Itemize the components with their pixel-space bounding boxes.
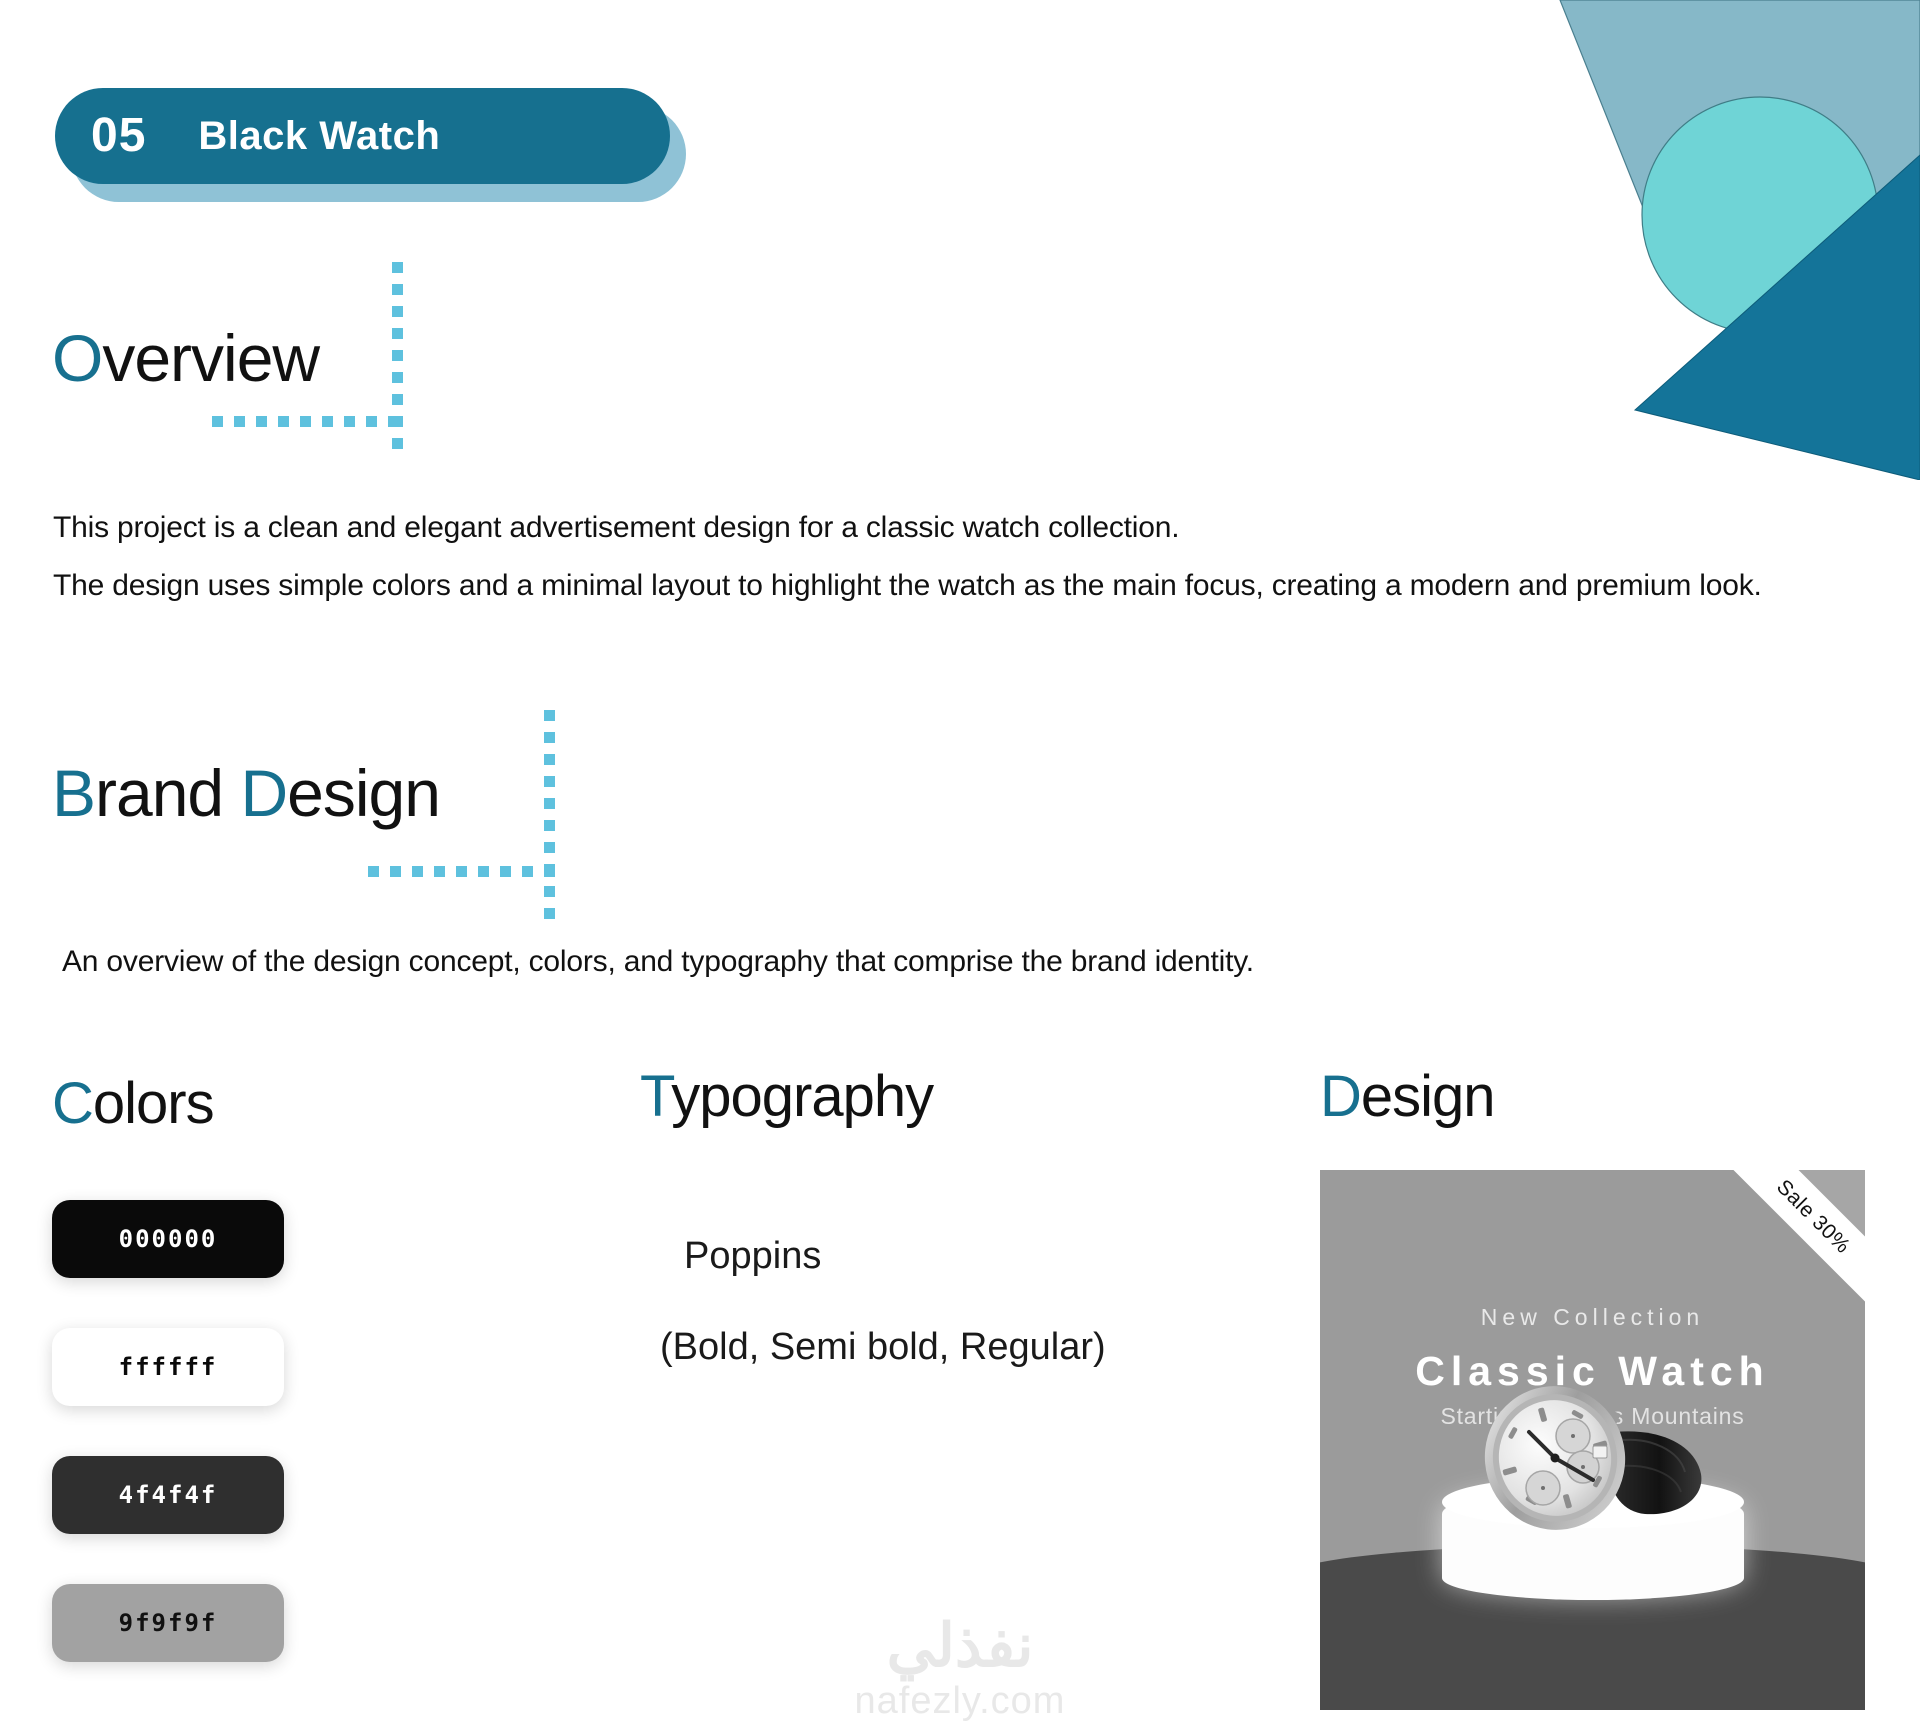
overview-line-2: The design uses simple colors and a mini…	[53, 564, 1843, 608]
brand-heading-capital-d: D	[240, 756, 287, 830]
badge-number: 05	[91, 112, 146, 160]
typography-heading-capital: T	[640, 1064, 671, 1129]
watermark-latin-text: nafezly.com	[855, 1682, 1066, 1720]
design-heading-rest: esign	[1361, 1064, 1495, 1129]
overview-paragraph: This project is a clean and elegant adve…	[53, 506, 1843, 608]
typography-font-name: Poppins	[660, 1235, 1106, 1278]
color-swatch-label: ffffff	[119, 1353, 218, 1381]
dotted-underline-overview	[212, 416, 412, 436]
typography-details: Poppins (Bold, Semi bold, Regular)	[660, 1235, 1106, 1369]
colors-heading-capital: C	[52, 1071, 93, 1136]
page-title-typography: Typography	[640, 1068, 933, 1126]
ad-preview-card: Sale 30% New Collection Classic Watch St…	[1320, 1170, 1865, 1710]
overview-heading-rest: verview	[102, 321, 319, 395]
section-badge: 05 Black Watch	[55, 88, 670, 184]
brand-paragraph-text: An overview of the design concept, color…	[62, 940, 1312, 984]
badge-title: Black Watch	[198, 116, 440, 156]
brand-design-paragraph: An overview of the design concept, color…	[62, 940, 1312, 984]
wristwatch-product-image	[1443, 1370, 1743, 1550]
typography-font-weights: (Bold, Semi bold, Regular)	[660, 1326, 1106, 1369]
deco-dark-triangle	[1635, 155, 1920, 480]
color-swatch-list: 000000 ffffff 4f4f4f 9f9f9f	[52, 1200, 284, 1712]
watch-center-pin	[1550, 1454, 1559, 1463]
typography-heading-rest: ypography	[671, 1064, 933, 1129]
deco-circle	[1642, 97, 1878, 333]
page-title-design: Design	[1320, 1068, 1495, 1126]
page-title-colors: Colors	[52, 1075, 214, 1133]
color-swatch: 000000	[52, 1200, 284, 1278]
brand-heading-rest-2: esign	[287, 756, 440, 830]
slide-canvas: 05 Black Watch Overview This project is …	[0, 0, 1920, 1728]
deco-light-triangle	[1560, 0, 1920, 330]
color-swatch: 9f9f9f	[52, 1584, 284, 1662]
color-swatch: ffffff	[52, 1328, 284, 1406]
overview-line-1: This project is a clean and elegant adve…	[53, 506, 1843, 550]
color-swatch-label: 4f4f4f	[119, 1481, 218, 1509]
brand-heading-capital-b: B	[52, 756, 95, 830]
color-swatch-label: 9f9f9f	[119, 1609, 218, 1637]
site-watermark: نفذلي nafezly.com	[855, 1616, 1066, 1720]
overview-heading-capital: O	[52, 321, 102, 395]
dotted-underline-brand	[368, 866, 568, 886]
watch-date-window	[1593, 1446, 1607, 1458]
dotted-corner-brand	[536, 710, 596, 930]
ad-eyebrow-text: New Collection	[1320, 1304, 1865, 1331]
design-heading-capital: D	[1320, 1064, 1361, 1129]
brand-heading-rest-1: rand	[95, 756, 240, 830]
page-title-overview: Overview	[52, 325, 319, 391]
color-swatch: 4f4f4f	[52, 1456, 284, 1534]
badge-pill: 05 Black Watch	[55, 88, 670, 184]
colors-heading-rest: olors	[93, 1071, 214, 1136]
color-swatch-label: 000000	[119, 1225, 218, 1253]
watermark-arabic-text: نفذلي	[855, 1616, 1066, 1676]
corner-decoration	[1360, 0, 1920, 480]
page-title-brand-design: Brand Design	[52, 760, 440, 826]
